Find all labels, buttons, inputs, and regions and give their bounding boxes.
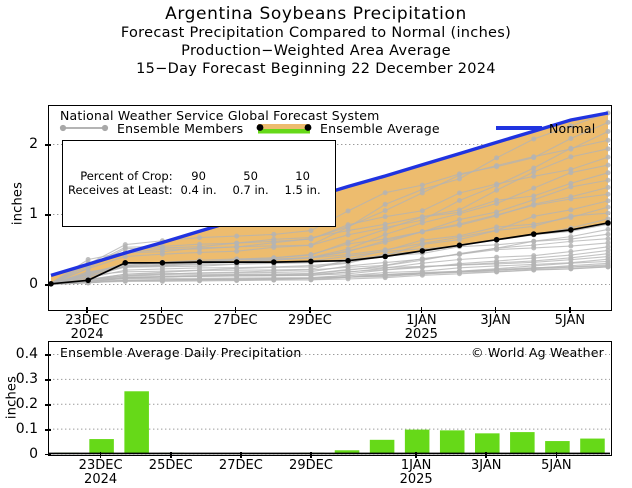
- legend-label-ensemble-average: Ensemble Average: [320, 121, 440, 136]
- receives-at-least-label: Receives at Least:: [68, 184, 173, 198]
- receives-amount-10: 1.5 in.: [277, 184, 329, 198]
- bottom-xtick-5: 3JAN: [446, 459, 526, 473]
- top-chart-ylabel: inches: [11, 174, 26, 234]
- bottom-xtick-1: 25DEC: [131, 459, 211, 473]
- percent-of-crop-box: Percent of Crop: 90 50 10 Receives at Le…: [62, 140, 336, 227]
- bottom-xtick-4: 1JAN2025: [376, 459, 456, 487]
- top-xtick-5: 3JAN: [456, 314, 536, 328]
- bottom-ytickmark-4: [45, 354, 51, 356]
- chart-title-block: Argentina Soybeans Precipitation Forecas…: [0, 4, 632, 78]
- receives-amount-50: 0.7 in.: [225, 184, 277, 198]
- page-title: Argentina Soybeans Precipitation: [0, 4, 632, 24]
- bottom-ytickmark-3: [45, 379, 51, 381]
- legend-label-normal: Normal: [549, 121, 595, 136]
- percent-of-crop-10: 10: [277, 170, 329, 184]
- top-ytickmark-1: [45, 214, 51, 216]
- normal-legend-icon: [494, 122, 544, 134]
- ensemble-members-legend-icon: [57, 122, 113, 134]
- bottom-ytick-3: 0.3: [0, 371, 38, 387]
- top-xtick-3: 29DEC: [270, 314, 350, 328]
- top-ytick-1: 1: [8, 206, 38, 222]
- percent-of-crop-50: 50: [225, 170, 277, 184]
- top-xtick-2: 27DEC: [196, 314, 276, 328]
- subtitle-2: Production−Weighted Area Average: [0, 42, 632, 60]
- top-xtick-6: 5JAN: [530, 314, 610, 328]
- top-ytickmark-2: [45, 144, 51, 146]
- copyright-notice: © World Ag Weather: [471, 345, 604, 360]
- ensemble-average-legend-icon: [253, 121, 315, 135]
- bottom-ytick-4: 0.4: [0, 346, 38, 362]
- percent-of-crop-90: 90: [173, 170, 225, 184]
- bottom-ytick-2: 0.2: [0, 396, 38, 412]
- bottom-ytickmark-1: [45, 429, 51, 431]
- bottom-ytickmark-0: [45, 454, 51, 456]
- subtitle-3: 15−Day Forecast Beginning 22 December 20…: [0, 60, 632, 78]
- top-xtick-1: 25DEC: [121, 314, 201, 328]
- top-ytick-0: 0: [8, 276, 38, 292]
- top-ytick-2: 2: [8, 136, 38, 152]
- percent-of-crop-label: Percent of Crop:: [68, 170, 173, 184]
- bottom-chart-label: Ensemble Average Daily Precipitation: [60, 345, 302, 360]
- bottom-ytick-1: 0.1: [0, 421, 38, 437]
- bottom-xtick-2: 27DEC: [201, 459, 281, 473]
- legend-label-ensemble-members: Ensemble Members: [117, 121, 243, 136]
- subtitle-1: Forecast Precipitation Compared to Norma…: [0, 24, 632, 42]
- bottom-ytick-0: 0: [0, 446, 38, 462]
- bottom-xtick-0: 23DEC2024: [61, 459, 141, 487]
- top-xtick-4: 1JAN2025: [381, 314, 461, 342]
- bottom-xtick-3: 29DEC: [271, 459, 351, 473]
- bottom-xtick-6: 5JAN: [516, 459, 596, 473]
- top-ytickmark-0: [45, 284, 51, 286]
- top-xtick-0: 23DEC2024: [47, 314, 127, 342]
- receives-amount-90: 0.4 in.: [173, 184, 225, 198]
- bottom-ytickmark-2: [45, 404, 51, 406]
